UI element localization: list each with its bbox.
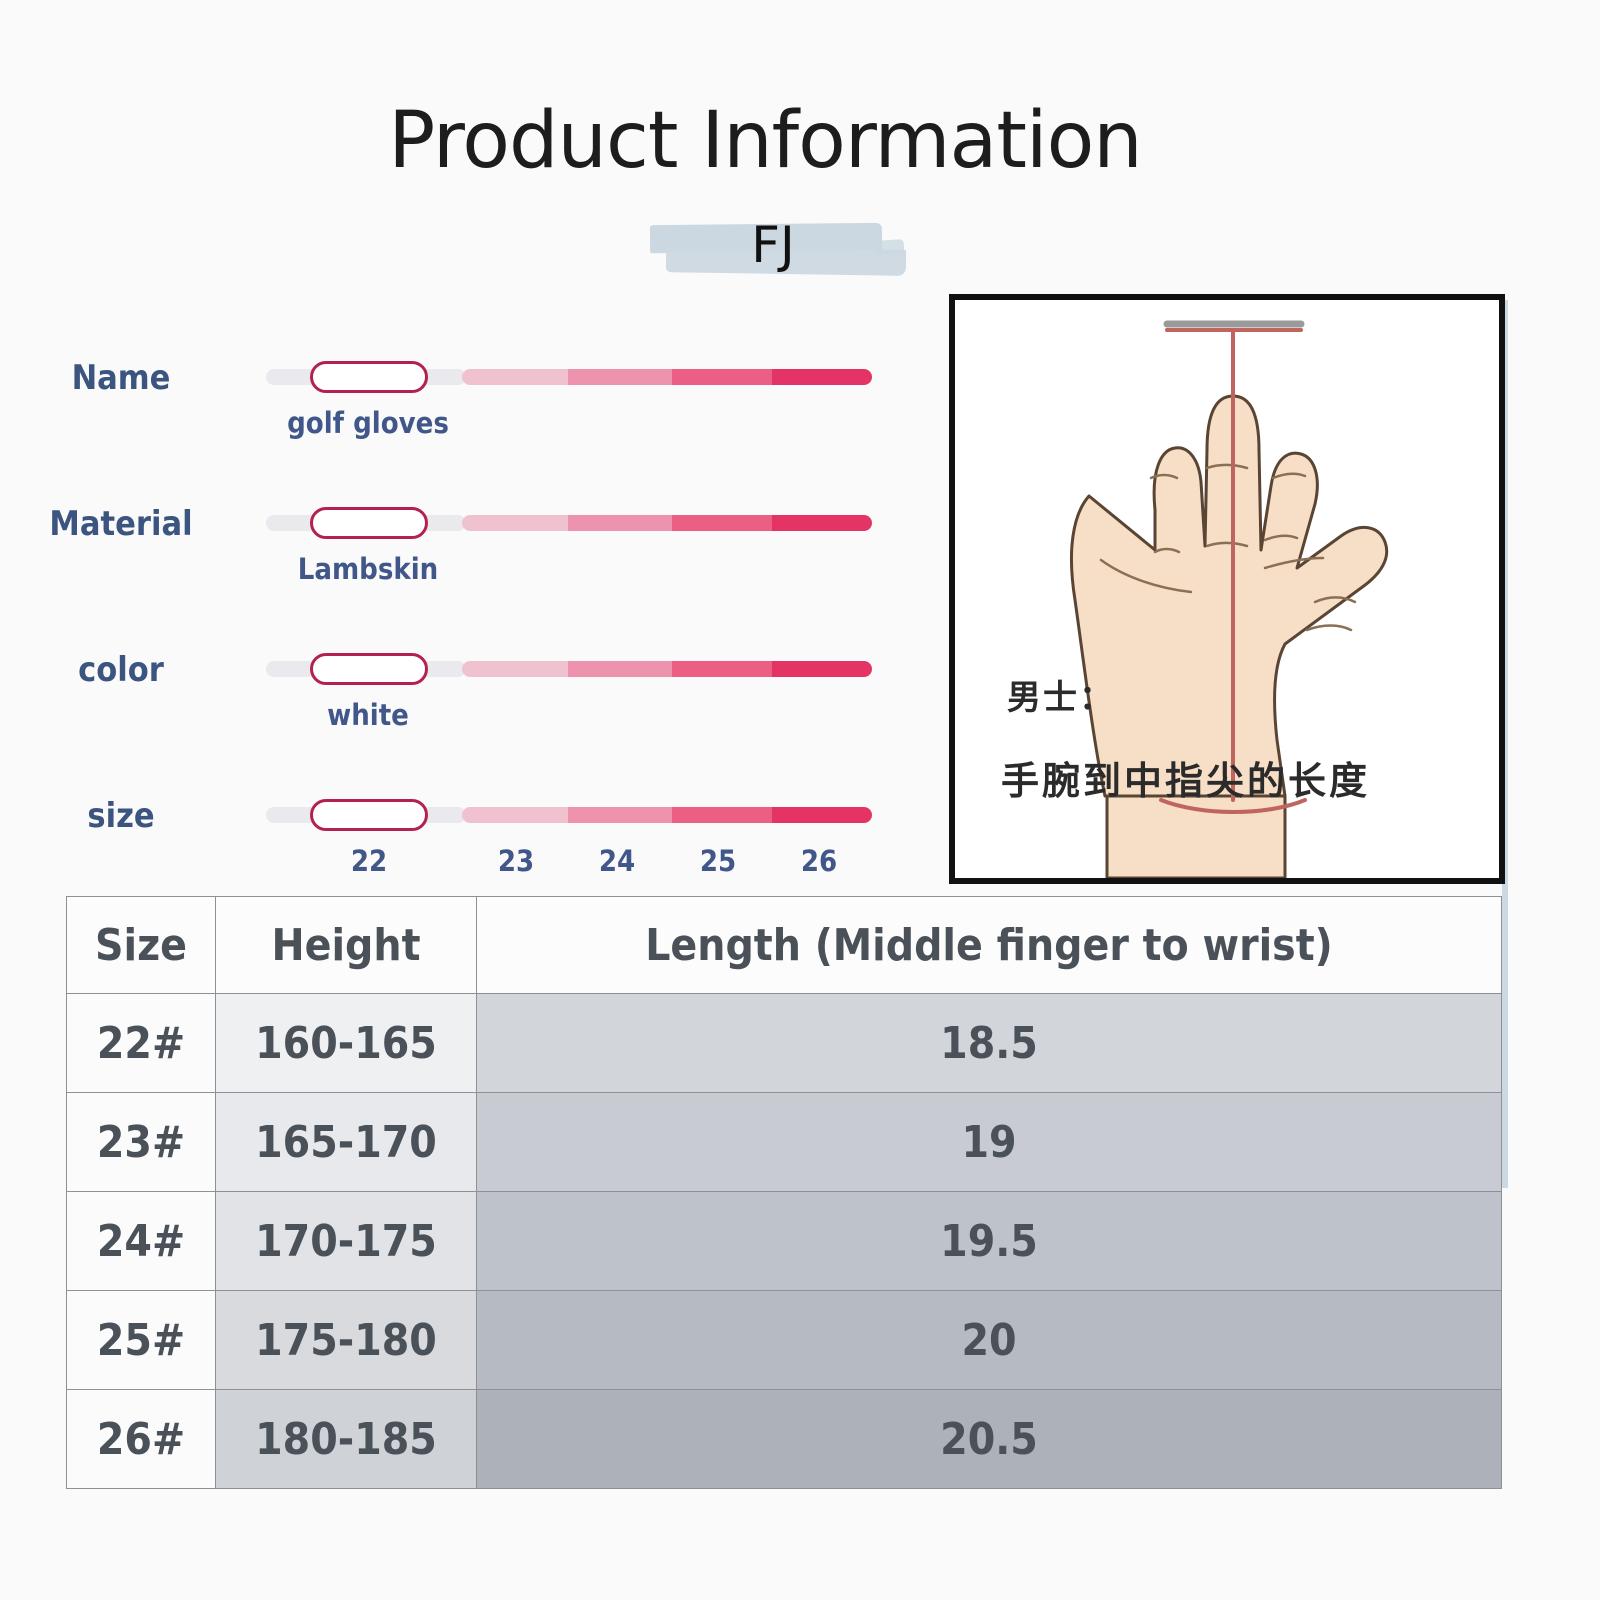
page-title: Product Information [0, 96, 1530, 186]
cell-length: 19.5 [477, 1192, 1502, 1291]
table-header-row: Size Height Length (Middle finger to wri… [67, 897, 1502, 994]
spec-slider-size[interactable] [266, 805, 872, 825]
slider-segment-1 [462, 661, 568, 677]
spec-row-color: color white [0, 644, 900, 790]
slider-segment-4 [772, 807, 872, 823]
cell-length: 18.5 [477, 994, 1502, 1093]
slider-segment-3 [672, 661, 772, 677]
table-row: 22# 160-165 18.5 [67, 994, 1502, 1093]
slider-segment-3 [672, 369, 772, 385]
size-tick-24: 24 [582, 844, 652, 878]
spec-row-name: Name golf gloves [0, 352, 900, 498]
spec-label-material: Material [0, 504, 242, 544]
column-header-length: Length (Middle finger to wrist) [477, 897, 1502, 994]
slider-segment-2 [568, 807, 672, 823]
brand-highlight: FJ [638, 214, 908, 286]
spec-label-name: Name [0, 358, 242, 398]
slider-segment-1 [462, 515, 568, 531]
hand-measurement-diagram: 男士： 手腕到中指尖的长度 [949, 294, 1505, 884]
table-row: 23# 165-170 19 [67, 1093, 1502, 1192]
size-tick-labels: 22 23 24 25 26 [266, 844, 872, 884]
table-body: 22# 160-165 18.5 23# 165-170 19 24# 170-… [67, 994, 1502, 1489]
table-row: 24# 170-175 19.5 [67, 1192, 1502, 1291]
size-tick-22: 22 [334, 844, 404, 878]
cell-size: 24# [67, 1192, 216, 1291]
cell-size: 23# [67, 1093, 216, 1192]
slider-segment-1 [462, 807, 568, 823]
spec-row-material: Material Lambskin [0, 498, 900, 644]
size-tick-25: 25 [683, 844, 753, 878]
slider-segment-2 [568, 369, 672, 385]
spec-label-size: size [0, 796, 242, 836]
slider-segment-3 [672, 515, 772, 531]
slider-segment-2 [568, 661, 672, 677]
spec-slider-material[interactable] [266, 513, 872, 533]
slider-segment-4 [772, 515, 872, 531]
slider-handle[interactable] [310, 361, 428, 393]
brand-label: FJ [638, 214, 908, 276]
cell-length: 20.5 [477, 1390, 1502, 1489]
spec-slider-name[interactable] [266, 367, 872, 387]
slider-segment-3 [672, 807, 772, 823]
cell-size: 26# [67, 1390, 216, 1489]
column-header-height: Height [216, 897, 477, 994]
slider-handle[interactable] [310, 507, 428, 539]
spec-value-material: Lambskin [266, 552, 470, 586]
slider-segment-4 [772, 369, 872, 385]
spec-slider-color[interactable] [266, 659, 872, 679]
cell-height: 175-180 [216, 1291, 477, 1390]
diagram-caption-cn: 男士： [1007, 670, 1115, 719]
diagram-note-cn: 手腕到中指尖的长度 [1001, 750, 1370, 805]
slider-segment-4 [772, 661, 872, 677]
slider-segment-2 [568, 515, 672, 531]
size-chart-table: Size Height Length (Middle finger to wri… [66, 896, 1502, 1489]
column-header-size: Size [67, 897, 216, 994]
cell-height: 170-175 [216, 1192, 477, 1291]
spec-value-color: white [266, 698, 470, 732]
size-tick-23: 23 [481, 844, 551, 878]
slider-segment-1 [462, 369, 568, 385]
size-tick-26: 26 [784, 844, 854, 878]
cell-height: 160-165 [216, 994, 477, 1093]
spec-label-color: color [0, 650, 242, 690]
cell-height: 180-185 [216, 1390, 477, 1489]
spec-list: Name golf gloves Material Lambskin color [0, 352, 900, 936]
slider-handle[interactable] [310, 653, 428, 685]
slider-handle[interactable] [310, 799, 428, 831]
table-row: 26# 180-185 20.5 [67, 1390, 1502, 1489]
cell-height: 165-170 [216, 1093, 477, 1192]
cell-length: 19 [477, 1093, 1502, 1192]
cell-size: 22# [67, 994, 216, 1093]
spec-value-name: golf gloves [266, 406, 470, 440]
cell-length: 20 [477, 1291, 1502, 1390]
table-row: 25# 175-180 20 [67, 1291, 1502, 1390]
cell-size: 25# [67, 1291, 216, 1390]
